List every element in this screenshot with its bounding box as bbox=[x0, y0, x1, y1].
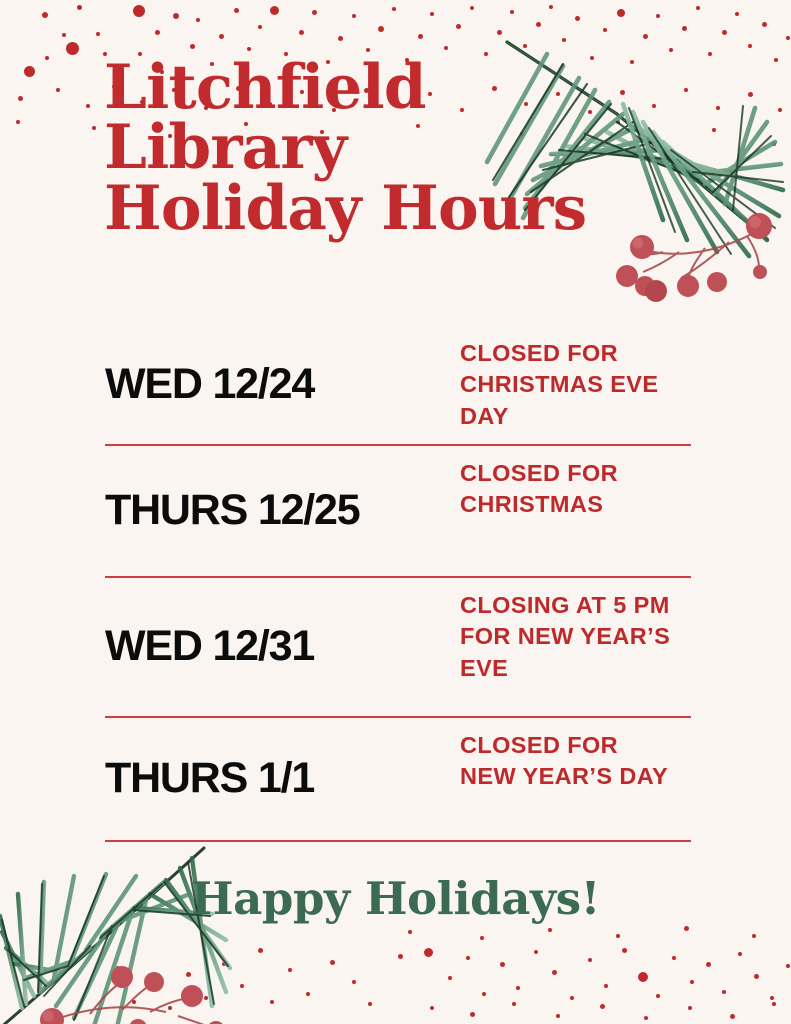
confetti-dot bbox=[738, 952, 742, 956]
table-cell-note: CLOSING AT 5 PM FOR NEW YEAR’S EVE bbox=[460, 578, 691, 716]
confetti-dot bbox=[234, 8, 239, 13]
table-cell-date: THURS 12/25 bbox=[105, 446, 460, 576]
confetti-dot bbox=[512, 1002, 516, 1006]
confetti-dot bbox=[716, 106, 720, 110]
confetti-dot bbox=[682, 26, 687, 31]
confetti-dot bbox=[368, 1002, 372, 1006]
confetti-dot bbox=[190, 44, 195, 49]
confetti-dot bbox=[392, 7, 396, 11]
confetti-dot bbox=[630, 60, 634, 64]
table-cell-note: CLOSED FOR CHRISTMAS EVE DAY bbox=[460, 326, 691, 444]
confetti-dot bbox=[132, 1000, 136, 1004]
confetti-dot bbox=[116, 966, 120, 970]
confetti-dot bbox=[684, 926, 689, 931]
confetti-dot bbox=[398, 954, 403, 959]
confetti-dot bbox=[786, 36, 790, 40]
confetti-dot bbox=[352, 980, 356, 984]
confetti-dot bbox=[600, 1004, 605, 1009]
confetti-dot bbox=[735, 12, 739, 16]
confetti-dot bbox=[352, 14, 356, 18]
confetti-dot bbox=[168, 1006, 172, 1010]
confetti-dot bbox=[669, 48, 673, 52]
confetti-dot bbox=[152, 984, 156, 988]
confetti-dot bbox=[616, 934, 620, 938]
confetti-dot bbox=[418, 34, 423, 39]
confetti-dot bbox=[480, 936, 484, 940]
confetti-dot bbox=[588, 958, 592, 962]
confetti-dot bbox=[258, 948, 263, 953]
confetti-dot bbox=[748, 92, 753, 97]
confetti-dot bbox=[16, 120, 20, 124]
confetti-dot bbox=[722, 990, 726, 994]
confetti-dot bbox=[448, 976, 452, 980]
confetti-dot bbox=[590, 56, 594, 60]
confetti-dot bbox=[534, 950, 538, 954]
confetti-dot bbox=[312, 10, 317, 15]
table-row: WED 12/24 CLOSED FOR CHRISTMAS EVE DAY bbox=[105, 326, 691, 444]
confetti-dot bbox=[92, 126, 96, 130]
confetti-dot bbox=[778, 108, 782, 112]
confetti-dot bbox=[786, 964, 790, 968]
confetti-dot bbox=[754, 974, 759, 979]
holiday-greeting: Happy Holidays! bbox=[0, 872, 791, 925]
page-title: Litchfield Library Holiday Hours bbox=[104, 58, 574, 239]
confetti-dot bbox=[470, 1012, 475, 1017]
confetti-dot bbox=[672, 956, 676, 960]
confetti-dot bbox=[772, 1002, 776, 1006]
confetti-dot bbox=[456, 24, 461, 29]
confetti-dot bbox=[155, 30, 160, 35]
confetti-dot bbox=[748, 44, 752, 48]
schedule-date: WED 12/31 bbox=[105, 624, 314, 669]
confetti-dot bbox=[523, 44, 527, 48]
confetti-dot bbox=[299, 30, 304, 35]
confetti-dot bbox=[556, 1014, 560, 1018]
schedule-date: THURS 1/1 bbox=[105, 756, 314, 801]
confetti-dot bbox=[219, 34, 224, 39]
table-cell-date: WED 12/24 bbox=[105, 326, 460, 444]
confetti-dot bbox=[643, 34, 648, 39]
confetti-dot bbox=[762, 22, 767, 27]
confetti-dot bbox=[706, 962, 711, 967]
schedule-note: CLOSING AT 5 PM FOR NEW YEAR’S EVE bbox=[460, 590, 675, 684]
confetti-dot bbox=[186, 972, 191, 977]
confetti-dot bbox=[696, 6, 700, 10]
confetti-dot bbox=[656, 994, 660, 998]
schedule-date: THURS 12/25 bbox=[105, 488, 359, 533]
confetti-dot bbox=[42, 12, 48, 18]
confetti-dot bbox=[424, 948, 433, 957]
confetti-dot bbox=[549, 5, 553, 9]
schedule-date: WED 12/24 bbox=[105, 362, 314, 407]
confetti-dot bbox=[603, 28, 607, 32]
confetti-dot bbox=[656, 14, 660, 18]
table-row: THURS 12/25 CLOSED FOR CHRISTMAS bbox=[105, 446, 691, 576]
schedule-note: CLOSED FOR NEW YEAR’S DAY bbox=[460, 730, 675, 793]
confetti-dot bbox=[222, 962, 226, 966]
confetti-dot bbox=[722, 30, 727, 35]
holiday-hours-table: WED 12/24 CLOSED FOR CHRISTMAS EVE DAY T… bbox=[105, 326, 691, 842]
confetti-dot bbox=[712, 128, 716, 132]
page-title-line-3: Holiday Hours bbox=[104, 179, 574, 239]
confetti-dot bbox=[62, 33, 66, 37]
confetti-dot bbox=[378, 26, 384, 32]
confetti-dot bbox=[690, 980, 694, 984]
confetti-dot bbox=[616, 120, 620, 124]
confetti-dot bbox=[482, 992, 486, 996]
confetti-dot bbox=[617, 9, 625, 17]
page-title-line-1: Litchfield bbox=[104, 58, 574, 118]
confetti-dot bbox=[204, 996, 208, 1000]
confetti-dot bbox=[484, 52, 488, 56]
table-cell-date: THURS 1/1 bbox=[105, 718, 460, 840]
table-row: WED 12/31 CLOSING AT 5 PM FOR NEW YEAR’S… bbox=[105, 578, 691, 716]
confetti-dot bbox=[247, 47, 251, 51]
confetti-dot bbox=[86, 104, 90, 108]
schedule-note: CLOSED FOR CHRISTMAS EVE DAY bbox=[460, 338, 675, 432]
confetti-dot bbox=[430, 1006, 434, 1010]
confetti-dot bbox=[730, 1014, 735, 1019]
confetti-dot bbox=[752, 934, 756, 938]
confetti-dot bbox=[575, 16, 580, 21]
confetti-dot bbox=[18, 96, 23, 101]
confetti-dot bbox=[196, 18, 200, 22]
confetti-dot bbox=[330, 960, 335, 965]
confetti-dot bbox=[466, 956, 470, 960]
confetti-dot bbox=[173, 13, 179, 19]
confetti-dot bbox=[338, 36, 343, 41]
confetti-dot bbox=[774, 58, 778, 62]
confetti-dot bbox=[562, 38, 566, 42]
confetti-dot bbox=[604, 984, 608, 988]
confetti-dot bbox=[638, 972, 648, 982]
table-cell-note: CLOSED FOR CHRISTMAS bbox=[460, 446, 691, 576]
confetti-dot bbox=[516, 986, 520, 990]
table-cell-date: WED 12/31 bbox=[105, 578, 460, 716]
confetti-dot bbox=[622, 948, 627, 953]
confetti-dot bbox=[497, 30, 502, 35]
confetti-dot bbox=[240, 984, 244, 988]
confetti-dot bbox=[288, 968, 292, 972]
confetti-dot bbox=[684, 88, 688, 92]
table-cell-note: CLOSED FOR NEW YEAR’S DAY bbox=[460, 718, 691, 840]
confetti-dot bbox=[644, 1016, 648, 1020]
confetti-dot bbox=[552, 970, 557, 975]
table-row: THURS 1/1 CLOSED FOR NEW YEAR’S DAY bbox=[105, 718, 691, 840]
confetti-dot bbox=[258, 25, 262, 29]
confetti-dot bbox=[408, 930, 412, 934]
confetti-dot bbox=[45, 56, 49, 60]
confetti-dot bbox=[688, 1006, 692, 1010]
confetti-dot bbox=[270, 1000, 274, 1004]
confetti-dot bbox=[430, 12, 434, 16]
confetti-dot bbox=[536, 22, 541, 27]
confetti-dot bbox=[588, 110, 592, 114]
confetti-dot bbox=[24, 66, 35, 77]
confetti-dot bbox=[620, 90, 625, 95]
confetti-dot bbox=[772, 142, 776, 146]
holiday-hours-poster: Litchfield Library Holiday Hours WED 12/… bbox=[0, 0, 791, 1024]
confetti-dot bbox=[444, 46, 448, 50]
page-title-line-2: Library bbox=[104, 118, 574, 178]
confetti-dot bbox=[510, 10, 514, 14]
confetti-dot bbox=[770, 996, 774, 1000]
confetti-dot bbox=[470, 6, 474, 10]
confetti-dot bbox=[570, 996, 574, 1000]
confetti-dot bbox=[270, 6, 279, 15]
confetti-dot bbox=[652, 104, 656, 108]
row-divider bbox=[105, 840, 691, 842]
confetti-dot bbox=[66, 42, 79, 55]
schedule-note: CLOSED FOR CHRISTMAS bbox=[460, 458, 675, 521]
confetti-dot bbox=[77, 5, 82, 10]
confetti-dot bbox=[56, 88, 60, 92]
confetti-dot bbox=[500, 962, 505, 967]
confetti-dot bbox=[548, 928, 552, 932]
confetti-dot bbox=[306, 992, 310, 996]
confetti-dot bbox=[133, 5, 145, 17]
confetti-dot bbox=[96, 32, 100, 36]
confetti-dot bbox=[708, 52, 712, 56]
